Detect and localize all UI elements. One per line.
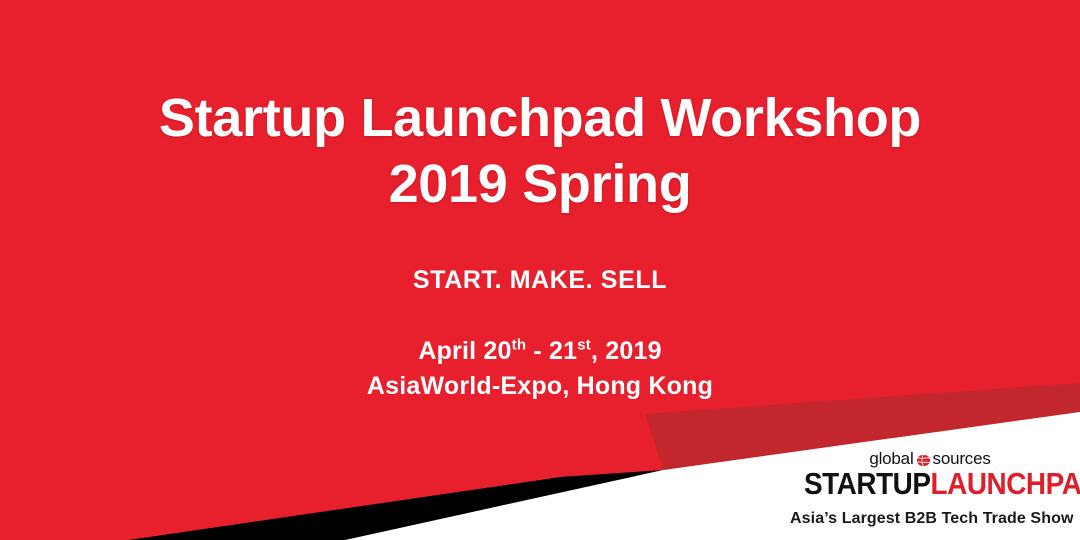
startup-launchpad-wordmark: STARTUPLAUNCHPAD xyxy=(804,468,1056,499)
watermark-line-launchpad: LAUNCHPAD xyxy=(0,498,126,526)
watermark-cell: STARTUPLAUNCHPAD xyxy=(498,472,684,527)
watermark-line-launchpad: LAUNCHPAD xyxy=(1056,226,1080,254)
event-venue: AsiaWorld-Expo, Hong Kong xyxy=(0,369,1080,404)
watermark-line-launchpad: LAUNCHPAD xyxy=(870,226,1056,254)
watermark-line-launchpad: LAUNCHPAD xyxy=(684,226,870,254)
wordmark-startup: STARTUP xyxy=(804,466,931,501)
event-date-prefix: April 20 xyxy=(418,337,511,365)
wordmark-launchpad: LAUNCHPAD xyxy=(931,466,1080,501)
watermark-line-startup: STARTUP xyxy=(126,472,312,498)
event-date-suffix: , 2019 xyxy=(591,337,662,365)
black-triangle-shape xyxy=(128,470,663,540)
watermark-cell: STARTUPLAUNCHPAD xyxy=(126,472,312,527)
poster-canvas: STARTUPLAUNCHPADSTARTUPLAUNCHPADSTARTUPL… xyxy=(0,0,1080,540)
watermark-line-startup: STARTUP xyxy=(0,472,126,498)
tagline: START. MAKE. SELL xyxy=(0,266,1080,295)
watermark-line-startup: STARTUP xyxy=(498,472,684,498)
logo-subline: Asia’s Largest B2B Tech Trade Show xyxy=(790,510,1070,528)
globe-icon xyxy=(916,453,931,466)
watermark-cell: STARTUPLAUNCHPAD xyxy=(312,472,498,527)
watermark-line-startup: STARTUP xyxy=(312,472,498,498)
headline-block: Startup Launchpad Workshop 2019 Spring xyxy=(0,86,1080,218)
event-date-ordinal-2: st xyxy=(577,337,591,354)
event-date: April 20th - 21st, 2019 xyxy=(0,334,1080,369)
event-date-ordinal-1: th xyxy=(512,337,527,354)
watermark-cell: STARTUPLAUNCHPAD xyxy=(0,472,126,527)
watermark-line-launchpad: LAUNCHPAD xyxy=(312,226,498,254)
headline-line-2: 2019 Spring xyxy=(0,152,1080,218)
brand-word-sources: sources xyxy=(933,450,991,467)
event-date-middle: - 21 xyxy=(526,337,577,365)
brand-word-global: global xyxy=(869,450,913,467)
headline-line-1: Startup Launchpad Workshop xyxy=(0,86,1080,152)
global-sources-wordmark: global sources xyxy=(790,450,1070,467)
logo-lockup: global sources STARTUPLAUNCHPAD Asia’s L… xyxy=(790,450,1070,528)
watermark-line-launchpad: LAUNCHPAD xyxy=(0,226,126,254)
watermark-line-launchpad: LAUNCHPAD xyxy=(498,498,684,526)
watermark-line-launchpad: LAUNCHPAD xyxy=(126,226,312,254)
event-details-block: April 20th - 21st, 2019 AsiaWorld-Expo, … xyxy=(0,334,1080,404)
watermark-line-launchpad: LAUNCHPAD xyxy=(498,226,684,254)
watermark-line-launchpad: LAUNCHPAD xyxy=(126,498,312,526)
watermark-line-launchpad: LAUNCHPAD xyxy=(312,498,498,526)
